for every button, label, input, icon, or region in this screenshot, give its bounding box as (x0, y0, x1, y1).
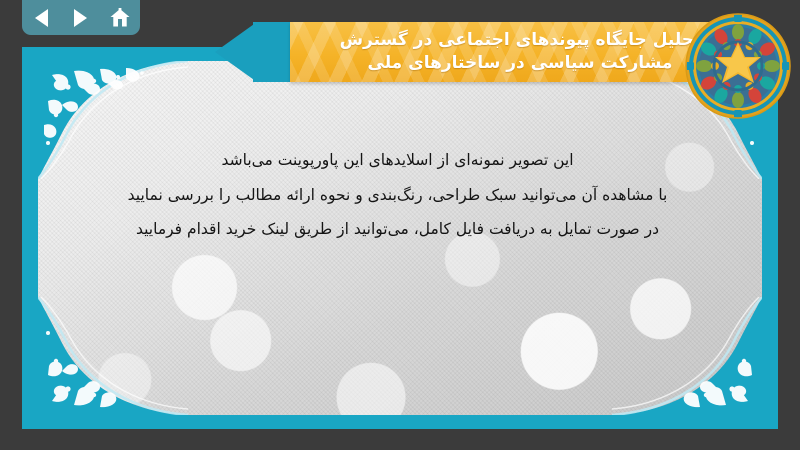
slide-page: این تصویر نمونه‌ای از اسلایدهای این پاور… (38, 61, 762, 415)
banner-tail (253, 22, 293, 82)
title-banner: تحلیل جایگاه پیوندهای اجتماعی در گسترش م… (215, 12, 800, 92)
slide-viewer: این تصویر نمونه‌ای از اسلایدهای این پاور… (0, 0, 800, 450)
triangle-left-icon (35, 9, 48, 27)
triangle-right-icon (74, 9, 87, 27)
home-button[interactable] (105, 5, 135, 31)
navigation-bar (22, 0, 140, 35)
banner-gold-plate: تحلیل جایگاه پیوندهای اجتماعی در گسترش م… (290, 22, 750, 82)
title-line-2: مشارکت سیاسی در ساختارهای ملی (368, 52, 673, 75)
body-line-3: در صورت تمایل به دریافت فایل کامل، می‌تو… (78, 218, 717, 242)
body-line-1: این تصویر نمونه‌ای از اسلایدهای این پاور… (78, 149, 717, 173)
slide-frame: این تصویر نمونه‌ای از اسلایدهای این پاور… (22, 47, 778, 429)
persian-medallion-icon (684, 12, 792, 120)
title-line-1: تحلیل جایگاه پیوندهای اجتماعی در گسترش (340, 29, 701, 52)
next-slide-button[interactable] (66, 5, 96, 31)
body-line-2: با مشاهده آن می‌توانید سبک طراحی، رنگ‌بن… (78, 184, 717, 208)
arabesque-corner-bottom-left-icon (38, 297, 188, 415)
previous-slide-button[interactable] (27, 5, 57, 31)
slide-body-text: این تصویر نمونه‌ای از اسلایدهای این پاور… (78, 149, 717, 253)
banner-arrow-tip (215, 22, 257, 82)
arabesque-corner-bottom-right-icon (612, 297, 762, 415)
home-icon (109, 8, 131, 28)
